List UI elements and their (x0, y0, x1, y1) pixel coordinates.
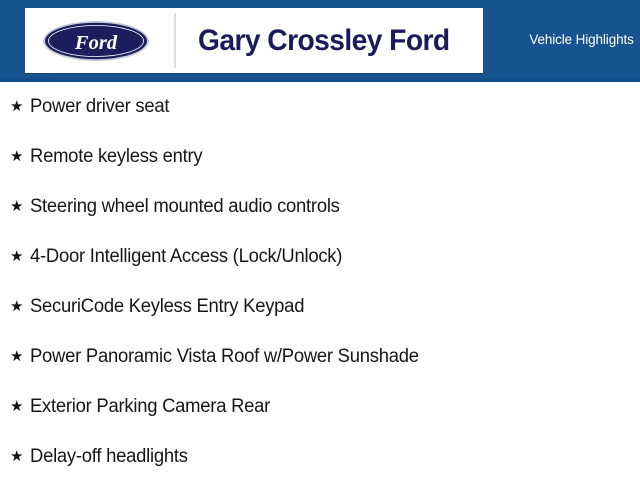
highlight-item-label: Steering wheel mounted audio controls (30, 197, 340, 218)
highlight-item-label: SecuriCode Keyless Entry Keypad (30, 297, 304, 318)
highlight-item: ★4-Door Intelligent Access (Lock/Unlock) (0, 232, 640, 282)
highlight-item-label: Power driver seat (30, 97, 169, 118)
highlight-item-label: Exterior Parking Camera Rear (30, 397, 270, 418)
svg-text:Ford: Ford (74, 32, 118, 54)
star-icon: ★ (10, 449, 30, 464)
star-icon: ★ (10, 149, 30, 164)
header-band: Ford Gary Crossley Ford Vehicle Highligh… (0, 0, 640, 82)
highlight-item-label: Remote keyless entry (30, 147, 202, 168)
vehicle-highlights-list: ★Power driver seat★Remote keyless entry★… (0, 82, 640, 480)
logo-divider (174, 13, 176, 68)
page-title: Vehicle Highlights (530, 31, 634, 47)
highlight-item: ★Remote keyless entry (0, 132, 640, 182)
star-icon: ★ (10, 249, 30, 264)
highlight-item: ★Delay-off headlights (0, 432, 640, 482)
star-icon: ★ (10, 399, 30, 414)
dealer-logo-panel[interactable]: Ford Gary Crossley Ford (25, 8, 483, 73)
highlight-item-label: Power Panoramic Vista Roof w/Power Sunsh… (30, 347, 419, 368)
star-icon: ★ (10, 99, 30, 114)
highlight-item: ★Steering wheel mounted audio controls (0, 182, 640, 232)
star-icon: ★ (10, 199, 30, 214)
dealer-name: Gary Crossley Ford (198, 26, 450, 56)
ford-oval-icon: Ford (42, 20, 150, 62)
highlight-item: ★Power driver seat (0, 82, 640, 132)
star-icon: ★ (10, 349, 30, 364)
highlight-item-label: Delay-off headlights (30, 447, 188, 468)
highlight-item: ★Exterior Parking Camera Rear (0, 382, 640, 432)
star-icon: ★ (10, 299, 30, 314)
highlight-item-label: 4-Door Intelligent Access (Lock/Unlock) (30, 247, 342, 268)
vehicle-highlights-page: Ford Gary Crossley Ford Vehicle Highligh… (0, 0, 640, 480)
highlight-item: ★SecuriCode Keyless Entry Keypad (0, 282, 640, 332)
highlight-item: ★Power Panoramic Vista Roof w/Power Suns… (0, 332, 640, 382)
